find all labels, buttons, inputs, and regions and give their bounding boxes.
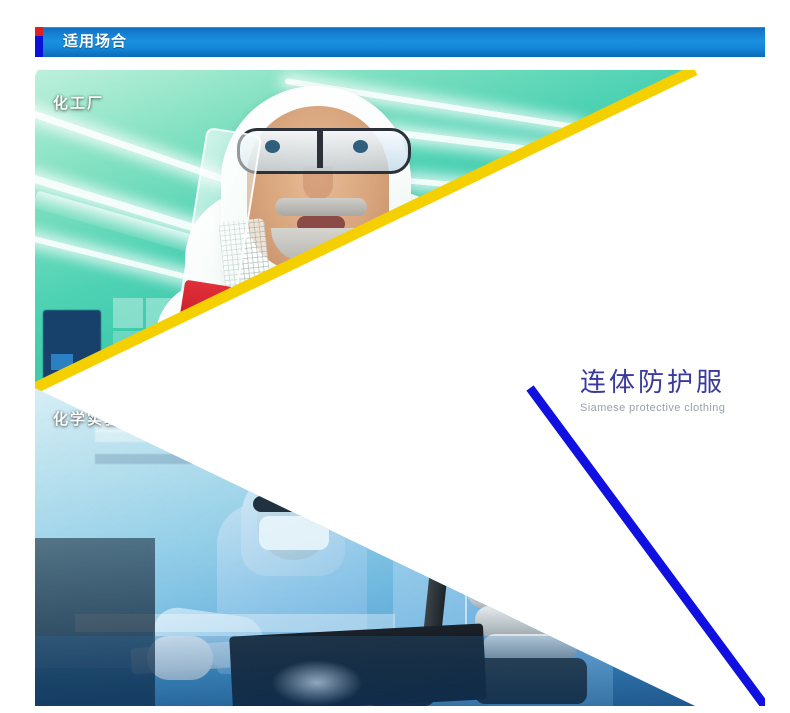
lab-cabinet	[95, 398, 305, 432]
header-accent-marker	[35, 27, 43, 57]
lab-equipment	[335, 285, 373, 375]
lab-shelf	[285, 444, 455, 458]
worker-hood	[409, 432, 495, 528]
photo-caption-chemistry-laboratory: 化学实验室	[53, 408, 138, 429]
worker-eye-left	[265, 140, 280, 153]
microscope-body	[475, 606, 585, 636]
glove-finger	[226, 319, 255, 378]
microscope-head	[453, 506, 599, 552]
safety-goggles	[237, 128, 411, 174]
lab-floor	[35, 636, 695, 706]
worker-hood	[503, 420, 595, 520]
watermark-photo1: xfs.com 鑫方盛	[505, 165, 695, 335]
product-title-cn: 连体防护服	[580, 362, 780, 399]
lab-equipment	[503, 285, 543, 361]
worker-eye-right	[353, 140, 368, 153]
face-mask	[259, 516, 329, 550]
glove-finger	[199, 317, 228, 378]
section-title: 适用场合	[63, 27, 127, 57]
watermark-brand: 鑫方盛	[516, 121, 693, 281]
logo-quadrant	[113, 331, 143, 361]
face-mask	[423, 480, 481, 508]
safety-goggles	[513, 450, 587, 464]
microscope-neck	[503, 546, 555, 578]
safety-goggles	[253, 496, 335, 512]
microscope-body	[467, 574, 593, 608]
worker-moustache	[275, 198, 367, 216]
gloved-hand	[163, 332, 293, 388]
photo-chemical-plant: xfs.com 鑫方盛 化工厂	[35, 70, 695, 388]
product-title-block: 连体防护服 Siamese protective clothing	[580, 362, 780, 414]
accent-blue-block	[35, 36, 43, 57]
four-square-logo-icon	[113, 298, 175, 360]
product-banner-page: 适用场合	[0, 0, 790, 713]
glove-finger	[171, 320, 205, 379]
wall-panel-label	[51, 354, 73, 370]
logo-quadrant	[146, 331, 176, 361]
section-header: 适用场合	[35, 27, 765, 57]
goggles-bridge	[317, 128, 323, 168]
background-worker-face	[423, 275, 457, 305]
photo-chemistry-laboratory: xfs.com 鑫方盛 化学实验室	[35, 388, 695, 706]
worker-face	[517, 438, 583, 504]
logo-quadrant	[146, 298, 176, 328]
safety-goggles	[417, 462, 487, 476]
background-worker	[403, 258, 477, 388]
logo-quadrant	[113, 298, 143, 328]
face-mask	[519, 468, 581, 496]
header-bar-background	[43, 27, 765, 57]
product-title-en: Siamese protective clothing	[580, 402, 780, 414]
worker-face	[421, 450, 483, 514]
accent-red-block	[35, 27, 43, 36]
photo-caption-chemical-plant: 化工厂	[53, 92, 104, 113]
lab-shelf	[285, 468, 435, 478]
lab-equipment	[465, 260, 511, 356]
